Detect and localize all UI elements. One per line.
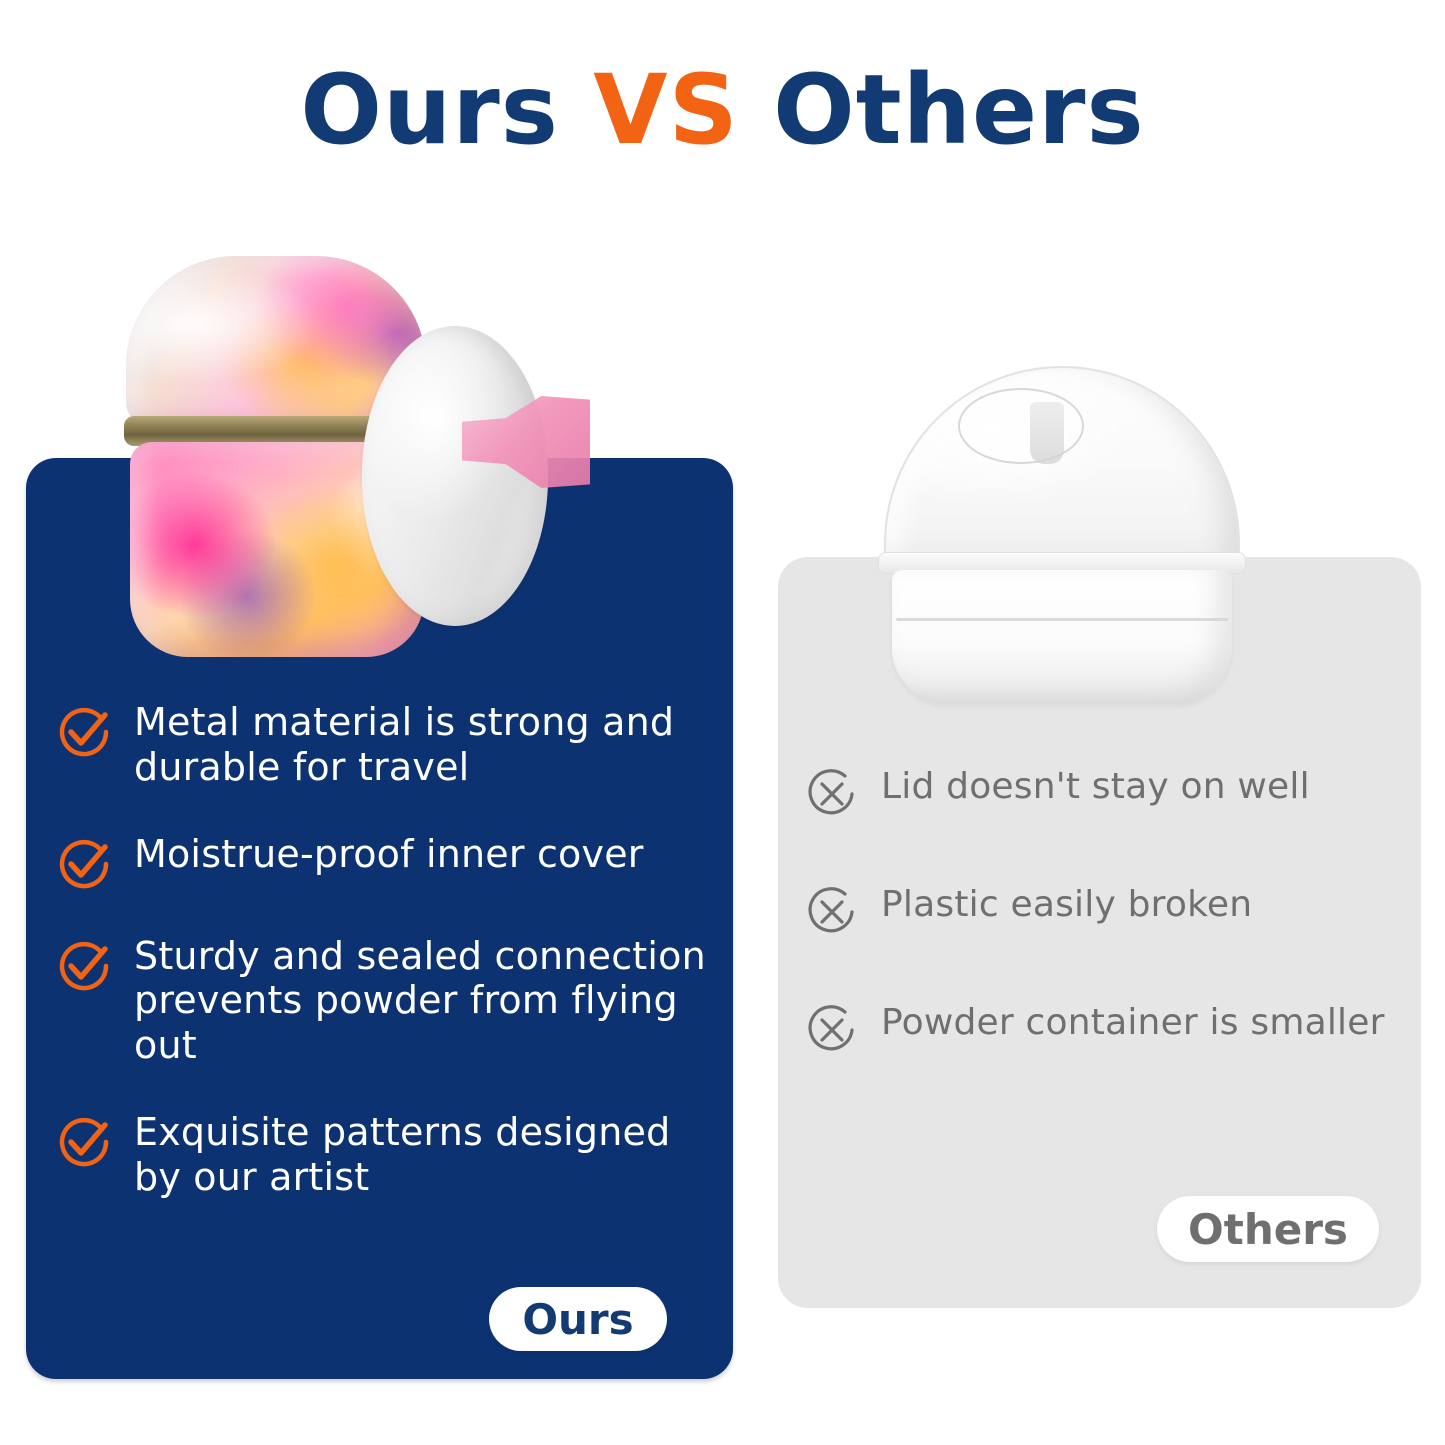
list-item: Exquisite patterns designed by our artis… <box>56 1110 716 1200</box>
others-product-image <box>862 366 1262 706</box>
page-title: Ours VS Others <box>0 62 1445 158</box>
check-circle-icon <box>56 836 112 892</box>
ours-product-image <box>110 248 590 668</box>
ours-badge-label: Ours <box>522 1295 633 1344</box>
list-item-label: Exquisite patterns designed by our artis… <box>134 1110 716 1200</box>
x-circle-icon <box>805 885 859 939</box>
list-item: Metal material is strong and durable for… <box>56 700 716 790</box>
list-item-label: Sturdy and sealed connection prevents po… <box>134 934 716 1068</box>
check-circle-icon <box>56 1114 112 1170</box>
dome-knob <box>1030 402 1064 464</box>
list-item-label: Moistrue-proof inner cover <box>134 832 644 877</box>
powder-puff <box>362 326 548 626</box>
ours-feature-list: Metal material is strong and durable for… <box>56 700 716 1200</box>
list-item-label: Plastic easily broken <box>881 883 1252 926</box>
list-item-label: Powder container is smaller <box>881 1001 1385 1044</box>
list-item: Plastic easily broken <box>805 883 1405 939</box>
list-item: Sturdy and sealed connection prevents po… <box>56 934 716 1068</box>
others-badge-label: Others <box>1188 1205 1348 1254</box>
list-item-label: Metal material is strong and durable for… <box>134 700 716 790</box>
x-circle-icon <box>805 1003 859 1057</box>
list-item: Powder container is smaller <box>805 1001 1405 1057</box>
list-item-label: Lid doesn't stay on well <box>881 765 1310 808</box>
title-part-ours: Ours <box>300 54 593 166</box>
title-vs: VS <box>593 54 738 166</box>
list-item: Moistrue-proof inner cover <box>56 832 716 892</box>
ours-badge: Ours <box>489 1287 667 1351</box>
list-item: Lid doesn't stay on well <box>805 765 1405 821</box>
title-part-others: Others <box>739 54 1145 166</box>
check-circle-icon <box>56 938 112 994</box>
x-circle-icon <box>805 767 859 821</box>
comparison-infographic: Ours VS Others Metal material is strong … <box>0 0 1445 1445</box>
others-feature-list: Lid doesn't stay on well Plastic easily … <box>805 765 1405 1057</box>
dome-top-circle <box>958 388 1084 464</box>
plastic-base <box>892 570 1232 704</box>
check-circle-icon <box>56 704 112 760</box>
base-groove <box>896 618 1228 621</box>
others-badge: Others <box>1157 1196 1379 1262</box>
